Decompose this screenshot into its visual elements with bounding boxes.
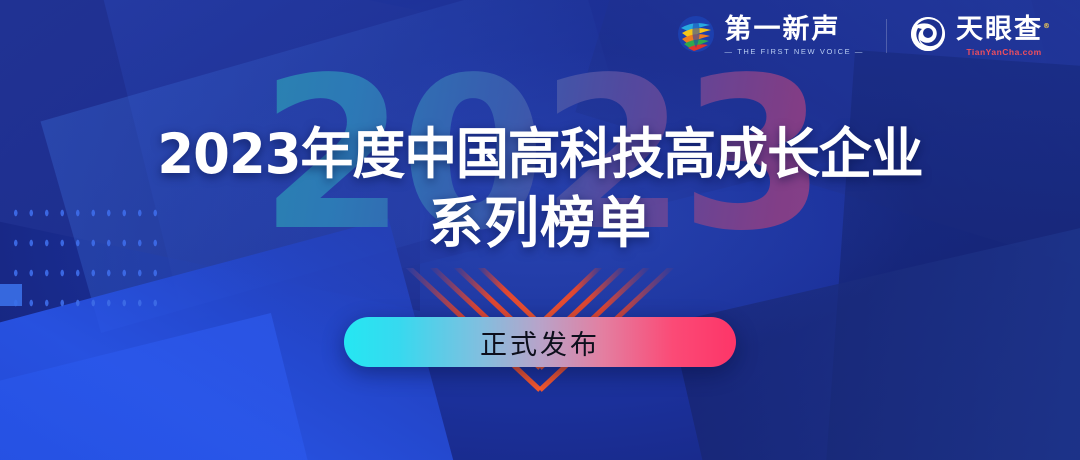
release-cta-button[interactable]: 正式发布 [344,317,736,367]
logo-diyixinsheng-tagline: — THE FIRST NEW VOICE — [725,47,864,56]
logo-diyixinsheng-name: 第一新声 [725,16,864,43]
logo-tianyancha-tagline: TianYanCha.com [956,47,1052,57]
logo-tianyancha[interactable]: 天眼查® TianYanCha.com [909,15,1052,57]
logo-diyixinsheng[interactable]: 第一新声 — THE FIRST NEW VOICE — [676,14,864,58]
swoosh-sphere-icon [676,14,716,58]
logo-tianyancha-name: 天眼查® [956,16,1052,43]
bg-facet-bottom-left-2 [0,313,319,460]
headline-line-2: 系列榜单 [0,195,1080,251]
left-accent-bar [0,284,22,306]
logo-bar: 第一新声 — THE FIRST NEW VOICE — 天眼查® TianYa… [676,14,1052,58]
poster-banner: 2023 [0,0,1080,460]
eye-aperture-icon [909,15,947,57]
trademark-mark: ® [1043,22,1052,30]
headline-line-1: 2023年度中国高科技高成长企业 [22,126,1059,182]
release-cta-label: 正式发布 [480,323,600,362]
page-title: 2023年度中国高科技高成长企业 系列榜单 [0,126,1080,251]
logo-divider [886,19,887,53]
bg-facet-right-dark [826,50,1080,460]
